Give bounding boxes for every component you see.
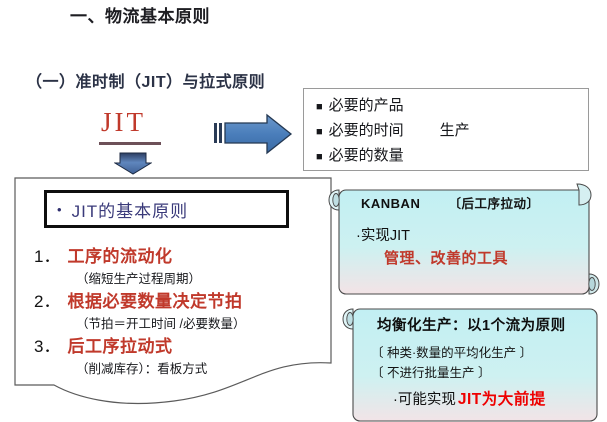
- bullet-icon: ■: [316, 95, 323, 119]
- bullet-icon: •: [57, 202, 62, 217]
- principle-number: 1．: [34, 242, 60, 267]
- need-text: 必要的产品: [329, 94, 404, 118]
- leveling-last-prefix: ·可能实现: [393, 392, 456, 408]
- principle-title: 根据必要数量决定节拍: [67, 287, 242, 312]
- need-text: 必要的数量: [329, 144, 404, 168]
- jit-label: JIT: [101, 109, 146, 136]
- principle-sub-3: （削减库存）：看板方式: [76, 358, 207, 377]
- principle-number: 3．: [34, 332, 60, 357]
- leveling-note-2: 〔 不进行批量生产 〕: [371, 362, 490, 381]
- bullet-icon: ■: [316, 120, 323, 144]
- leveling-last-line: ·可能实现JIT为大前提: [393, 387, 546, 409]
- principle-title: 后工序拉动式: [67, 332, 172, 357]
- kanban-heading: KANBAN 〔后工序拉动〕: [361, 193, 539, 212]
- list-item: ■ 必要的数量: [316, 144, 588, 169]
- leveling-scroll: 均衡化生产：以1个流为原则 〔 种类·数量的平均化生产 〕 〔 不进行批量生产 …: [341, 302, 607, 422]
- principles-paper: • JIT的基本原则 1． 工序的流动化 （缩短生产过程周期） 2． 根据必要数…: [14, 177, 332, 417]
- right-arrow-icon: [213, 113, 293, 155]
- list-item: ■ 必要的时间 生产: [316, 119, 588, 144]
- need-extra-text: 生产: [440, 119, 470, 143]
- principle-sub-1: （缩短生产过程周期）: [76, 268, 201, 287]
- needs-box: ■ 必要的产品 ■ 必要的时间 生产 ■ 必要的数量: [303, 88, 589, 171]
- need-text: 必要的时间: [329, 119, 404, 143]
- principles-header-box: • JIT的基本原则: [44, 190, 289, 228]
- principle-number: 2．: [34, 287, 60, 312]
- kanban-line-2: 管理、改善的工具: [384, 247, 508, 268]
- list-item: ■ 必要的产品: [316, 94, 588, 119]
- section-title: （一）准时制（JIT）与拉式原则: [26, 68, 265, 92]
- principle-item-2: 2． 根据必要数量决定节拍: [34, 287, 242, 312]
- slide-canvas: 一、物流基本原则 （一）准时制（JIT）与拉式原则 JIT: [0, 0, 607, 422]
- kanban-line-1: ·实现JIT: [356, 224, 410, 245]
- kanban-scroll: KANBAN 〔后工序拉动〕 ·实现JIT 管理、改善的工具: [327, 183, 601, 303]
- principle-item-3: 3． 后工序拉动式: [34, 332, 172, 357]
- leveling-highlight: JIT为大前提: [458, 391, 546, 408]
- page-title: 一、物流基本原则: [70, 2, 210, 27]
- principles-header-text: JIT的基本原则: [72, 197, 189, 222]
- leveling-heading: 均衡化生产：以1个流为原则: [377, 314, 566, 335]
- down-arrow-icon: [114, 152, 152, 176]
- kanban-heading-text: KANBAN: [361, 196, 420, 211]
- principle-item-1: 1． 工序的流动化: [34, 242, 172, 267]
- leveling-note-1: 〔 种类·数量的平均化生产 〕: [371, 342, 532, 361]
- bullet-icon: ■: [316, 145, 323, 169]
- jit-underline: [99, 142, 161, 145]
- principle-sub-2: （节拍＝开工时间 /必要数量）: [76, 313, 245, 332]
- kanban-heading-note: 〔后工序拉动〕: [448, 197, 539, 211]
- principle-title: 工序的流动化: [67, 242, 172, 267]
